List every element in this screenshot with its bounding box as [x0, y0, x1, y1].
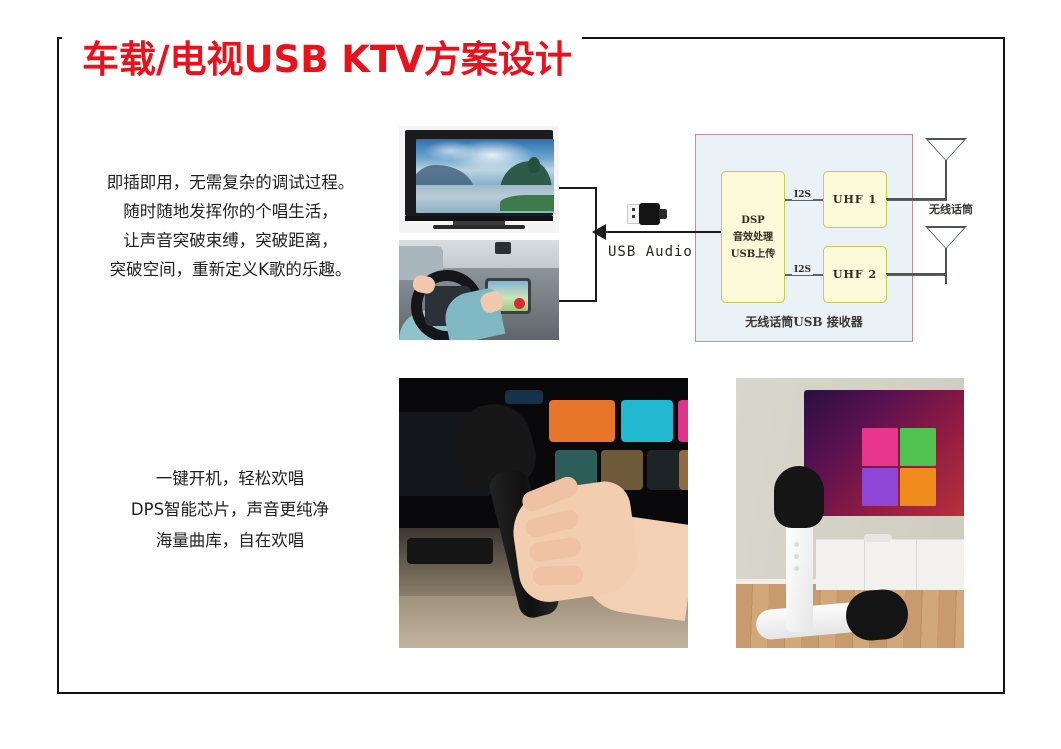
tv-connector-line [559, 187, 597, 189]
usb-connector-icon [627, 203, 667, 225]
microphone-1-foam-head [774, 466, 824, 528]
antenna-2-icon [925, 226, 969, 286]
car-air-vent [407, 538, 493, 564]
tv-bezel [405, 130, 553, 216]
car-dashcam [495, 242, 511, 254]
console-screen-badge [514, 298, 525, 309]
usb-audio-line [597, 231, 695, 233]
antenna-1-feed-wire [886, 198, 947, 200]
microphone-1-button-2[interactable] [794, 554, 799, 559]
connector-bracket-vertical [595, 187, 597, 302]
uhf2-label: UHF 2 [833, 268, 877, 281]
car-interior-photo [399, 240, 559, 340]
cabinet-seam-2 [916, 540, 917, 590]
usb-audio-label: USB Audio [608, 244, 693, 260]
dsp-label-3: USB上传 [731, 246, 775, 263]
screen-tile-orange [549, 400, 615, 442]
car-connector-line [559, 300, 597, 302]
screen-tile-pink [678, 400, 688, 442]
screen-tile-tab [505, 390, 543, 404]
slide: 车载/电视USB KTV方案设计 即插即用，无需复杂的调试过程。 随时随地发挥你… [0, 0, 1061, 749]
tv-app-tile-purple [862, 468, 898, 506]
tv-stand-foot [433, 225, 525, 229]
screen-tile-cyan [621, 400, 673, 442]
intro-line-3: 让声音突破束缚，突破距离， [78, 226, 383, 255]
usb-audio-arrow-icon [592, 224, 606, 240]
diagram-caption: 无线话筒USB 接收器 [696, 313, 912, 330]
microphone-in-car-photo [399, 378, 688, 648]
receiver-block-diagram: I2S I2S DSP 音效处理 USB上传 UHF 1 UHF 2 无线话筒U… [695, 134, 913, 342]
wireless-mic-label: 无线话筒 [929, 201, 973, 217]
microphone-1-button-1[interactable] [794, 542, 799, 547]
tv-app-tile-orange [900, 468, 936, 506]
tv-cabinet [816, 539, 964, 590]
screen-thumb-4 [679, 450, 688, 490]
features-paragraph: 一键开机，轻松欢唱 DPS智能芯片，声音更纯净 海量曲库，自在欢唱 [85, 463, 375, 556]
page-title: 车载/电视USB KTV方案设计 [82, 41, 572, 78]
tv-photo [399, 126, 559, 233]
feature-line-1: 一键开机，轻松欢唱 [85, 463, 375, 494]
dsp-block: DSP 音效处理 USB上传 [721, 171, 785, 303]
i2s-label-1: I2S [792, 190, 813, 200]
dsp-label-1: DSP [741, 212, 764, 229]
tv-wallpaper-tree [528, 157, 540, 173]
remote-control [864, 534, 892, 542]
cabinet-seam-1 [864, 540, 865, 590]
tv-app-tile-green [900, 428, 936, 466]
intro-paragraph: 即插即用，无需复杂的调试过程。 随时随地发挥你的个唱生活， 让声音突破束缚，突破… [78, 168, 383, 284]
intro-line-4: 突破空间，重新定义K歌的乐趣。 [78, 255, 383, 284]
antenna-1-icon [925, 138, 969, 198]
intro-line-2: 随时随地发挥你的个唱生活， [78, 197, 383, 226]
antenna-2-feed-wire [886, 273, 947, 275]
feature-line-2: DPS智能芯片，声音更纯净 [85, 494, 375, 525]
uhf1-label: UHF 1 [833, 193, 877, 206]
microphone-1-handle [786, 522, 813, 632]
hand-finger-4 [533, 565, 584, 586]
tv-screen [416, 139, 554, 213]
uhf2-block: UHF 2 [823, 246, 887, 303]
intro-line-1: 即插即用，无需复杂的调试过程。 [78, 168, 383, 197]
dsp-label-2: 音效处理 [733, 229, 773, 246]
tv-app-tile-pink [862, 428, 898, 466]
antenna-2-feed-riser [945, 262, 947, 274]
living-room-microphones-photo [736, 378, 964, 648]
usb-entry-wire [695, 231, 721, 233]
antenna-1-feed-riser [945, 174, 947, 199]
i2s-label-2: I2S [792, 265, 813, 275]
feature-line-3: 海量曲库，自在欢唱 [85, 525, 375, 556]
uhf1-block: UHF 1 [823, 171, 887, 228]
wall-mounted-tv [804, 390, 964, 516]
microphone-1-button-3[interactable] [794, 566, 799, 571]
tv-wallpaper-shore [500, 195, 554, 211]
